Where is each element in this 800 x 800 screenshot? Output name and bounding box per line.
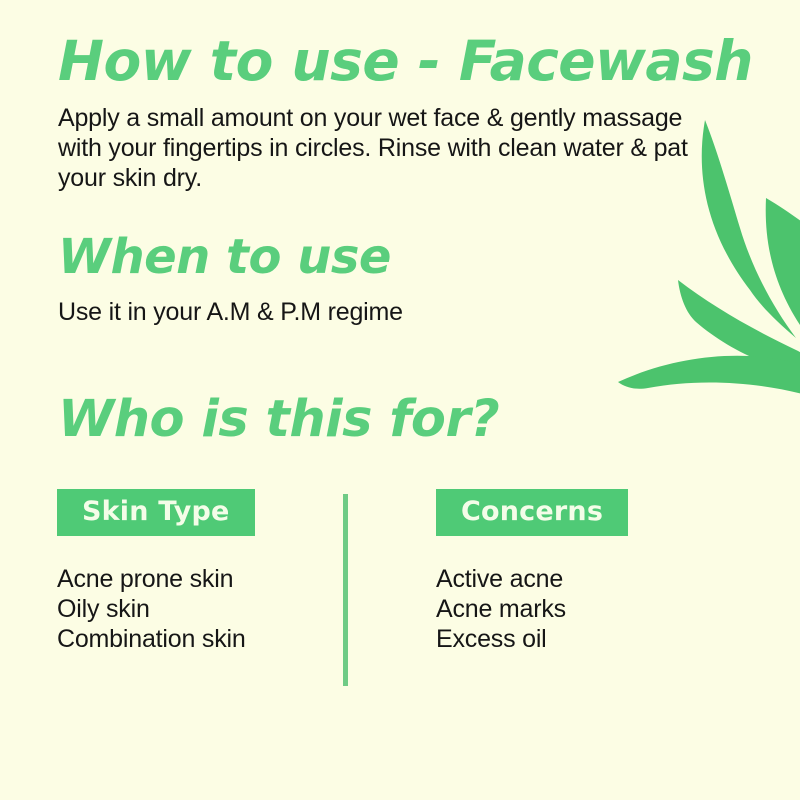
how-to-use-description: Apply a small amount on your wet face & … xyxy=(58,103,688,193)
list-item: Combination skin xyxy=(57,624,255,654)
list-item: Excess oil xyxy=(436,624,628,654)
list-item: Oily skin xyxy=(57,594,255,624)
when-to-use-description: Use it in your A.M & P.M regime xyxy=(58,297,578,327)
skin-type-badge: Skin Type xyxy=(57,489,255,536)
concerns-column: Concerns Active acne Acne marks Excess o… xyxy=(436,489,628,654)
how-to-use-heading: How to use - Facewash xyxy=(58,34,753,89)
who-is-this-for-heading: Who is this for? xyxy=(58,394,499,445)
skin-type-list: Acne prone skin Oily skin Combination sk… xyxy=(57,564,255,654)
list-item: Acne prone skin xyxy=(57,564,255,594)
list-item: Active acne xyxy=(436,564,628,594)
facewash-instructions-card: How to use - Facewash Apply a small amou… xyxy=(0,0,800,800)
concerns-badge: Concerns xyxy=(436,489,628,536)
list-item: Acne marks xyxy=(436,594,628,624)
skin-type-column: Skin Type Acne prone skin Oily skin Comb… xyxy=(57,489,255,654)
concerns-list: Active acne Acne marks Excess oil xyxy=(436,564,628,654)
column-divider xyxy=(343,494,348,686)
when-to-use-heading: When to use xyxy=(58,233,391,281)
audience-columns: Skin Type Acne prone skin Oily skin Comb… xyxy=(0,489,800,689)
